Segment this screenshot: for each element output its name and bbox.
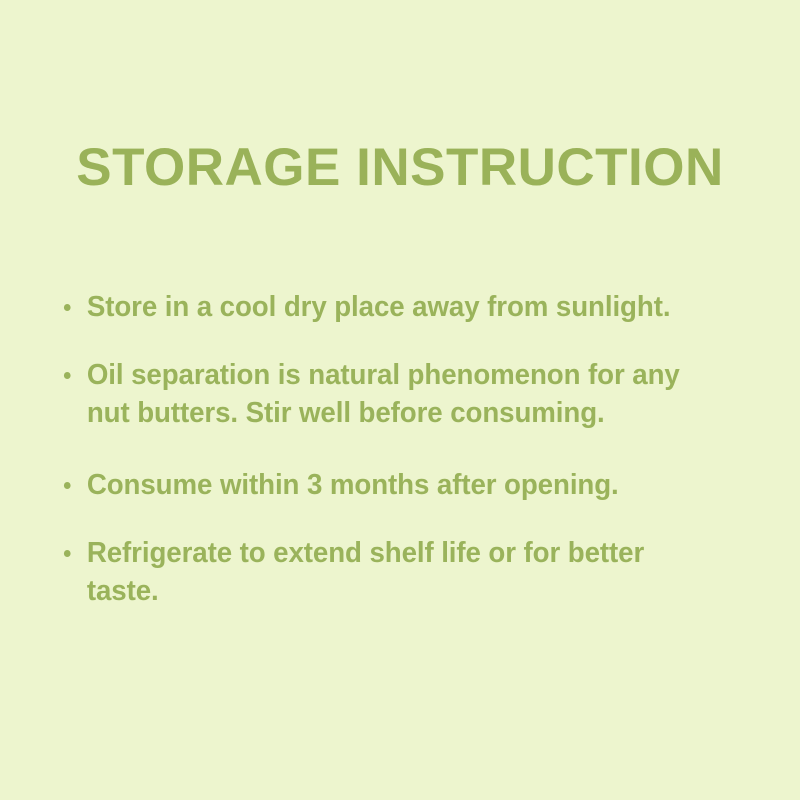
list-item: Consume within 3 months after opening.: [62, 466, 731, 504]
instruction-list: Store in a cool dry place away from sunl…: [62, 288, 762, 610]
list-item-line: nut butters. Stir well before consuming.: [87, 394, 731, 432]
list-item-line: Refrigerate to extend shelf life or for …: [87, 534, 731, 572]
storage-instruction-card: STORAGE INSTRUCTION Store in a cool dry …: [0, 0, 800, 800]
list-item: Store in a cool dry place away from sunl…: [62, 288, 731, 326]
list-item-line: Oil separation is natural phenomenon for…: [87, 356, 731, 394]
list-item-line: Consume within 3 months after opening.: [87, 466, 731, 504]
bullet-dot-icon: [64, 372, 71, 379]
bullet-dot-icon: [64, 550, 71, 557]
list-item-line: Store in a cool dry place away from sunl…: [87, 288, 731, 326]
page-title: STORAGE INSTRUCTION: [0, 138, 800, 198]
list-item-line: taste.: [87, 572, 731, 610]
list-item: Refrigerate to extend shelf life or for …: [62, 534, 731, 610]
bullet-dot-icon: [64, 482, 71, 489]
list-item: Oil separation is natural phenomenon for…: [62, 356, 731, 432]
bullet-dot-icon: [64, 304, 71, 311]
